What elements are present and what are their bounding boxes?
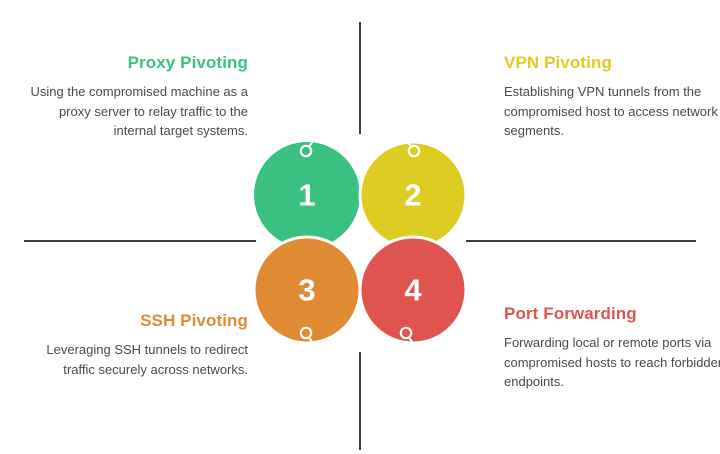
cluster-circle-2[interactable]: 2 (360, 134, 466, 248)
quadrant-title-ssh-pivoting: SSH Pivoting (24, 310, 248, 332)
quadrant-title-port-forwarding: Port Forwarding (504, 303, 720, 325)
circle-3-number: 3 (298, 273, 315, 308)
quadrant-description-vpn-pivoting: Establishing VPN tunnels from the compro… (504, 82, 720, 141)
quadrant-top-left: Proxy Pivoting Using the compromised mac… (24, 52, 248, 141)
divider-vertical-top (359, 22, 361, 134)
divider-vertical-bottom (359, 352, 361, 450)
cluster-circle-1[interactable]: 1 (254, 134, 360, 248)
quadrant-top-right: VPN Pivoting Establishing VPN tunnels fr… (504, 52, 720, 141)
cluster-circle-3[interactable]: 3 (254, 237, 360, 350)
divider-horizontal-left (24, 240, 256, 242)
circle-1-number: 1 (298, 178, 315, 213)
cluster-circle-4[interactable]: 4 (360, 237, 466, 350)
quadrant-description-ssh-pivoting: Leveraging SSH tunnels to redirect traff… (24, 340, 248, 379)
infographic-canvas: Proxy Pivoting Using the compromised mac… (0, 0, 720, 454)
quadrant-bottom-right: Port Forwarding Forwarding local or remo… (504, 303, 720, 392)
circle-2-number: 2 (404, 178, 421, 213)
circle-cluster: 1 2 3 (248, 124, 472, 350)
quadrant-description-port-forwarding: Forwarding local or remote ports via com… (504, 333, 720, 392)
quadrant-description-proxy-pivoting: Using the compromised machine as a proxy… (24, 82, 248, 141)
divider-horizontal-right (466, 240, 696, 242)
quadrant-title-vpn-pivoting: VPN Pivoting (504, 52, 720, 74)
quadrant-bottom-left: SSH Pivoting Leveraging SSH tunnels to r… (24, 310, 248, 379)
quadrant-title-proxy-pivoting: Proxy Pivoting (24, 52, 248, 74)
circle-4-number: 4 (404, 273, 422, 308)
